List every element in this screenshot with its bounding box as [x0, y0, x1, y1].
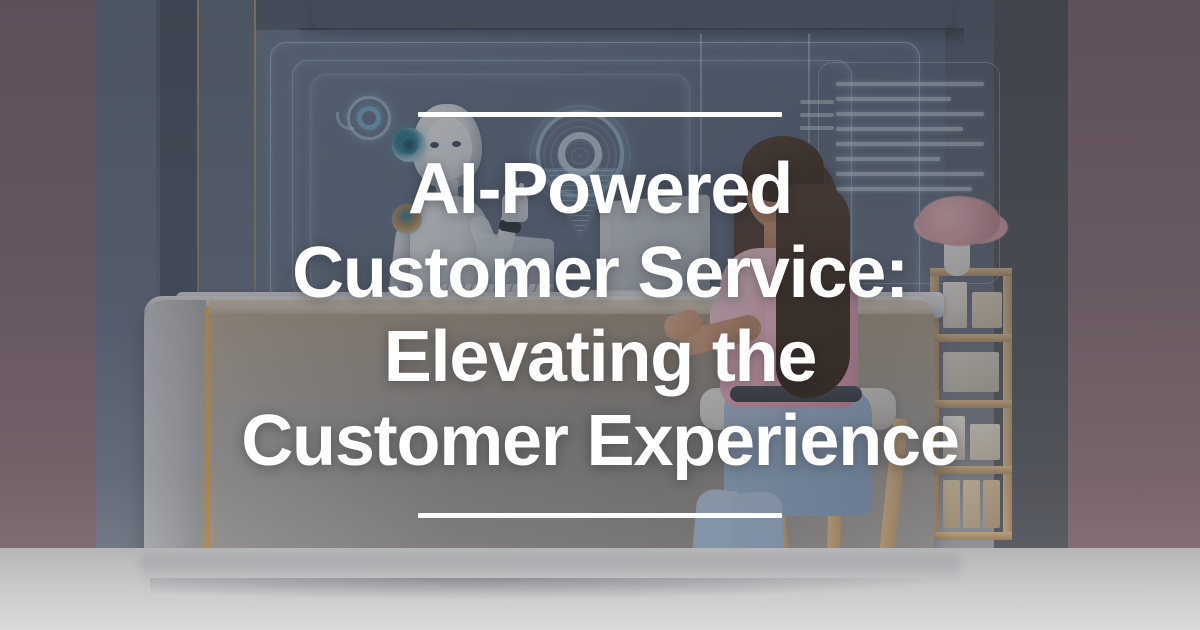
title-overlay: AI-Powered Customer Service: Elevating t… — [0, 0, 1200, 630]
headline-line-4: Customer Experience — [241, 399, 959, 483]
promo-banner: AI-Powered Customer Service: Elevating t… — [0, 0, 1200, 630]
bottom-divider-rule — [418, 513, 782, 518]
headline-line-3: Elevating the — [241, 315, 959, 399]
page-title: AI-Powered Customer Service: Elevating t… — [241, 147, 959, 483]
headline-line-1: AI-Powered — [241, 147, 959, 231]
top-divider-rule — [418, 112, 782, 117]
headline-line-2: Customer Service: — [241, 231, 959, 315]
